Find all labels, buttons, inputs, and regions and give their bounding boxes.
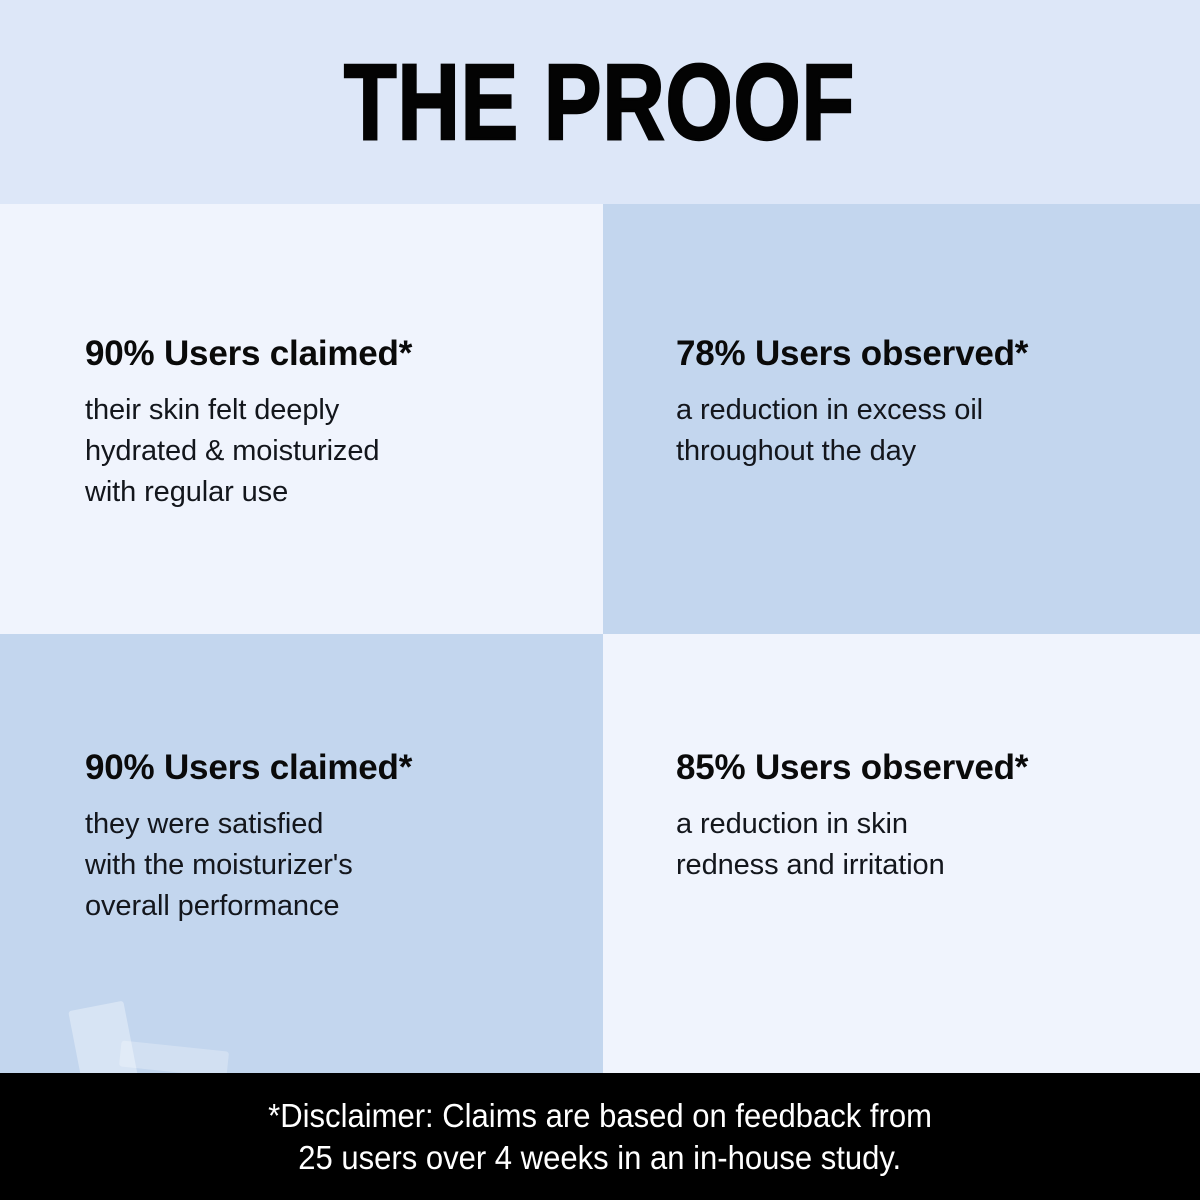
stat-tile-top-left: 90% Users claimed* their skin felt deepl… <box>0 204 603 634</box>
stat-body-line: throughout the day <box>676 431 1176 472</box>
stat-content: 78% Users observed* a reduction in exces… <box>676 332 1176 472</box>
stat-content: 90% Users claimed* their skin felt deepl… <box>85 332 579 513</box>
stat-heading: 90% Users claimed* <box>85 332 579 376</box>
stat-body: their skin felt deeply hydrated & moistu… <box>85 390 579 513</box>
disclaimer-line-2: 25 users over 4 weeks in an in-house stu… <box>299 1137 902 1179</box>
page-title: THE PROOF <box>344 48 855 156</box>
stat-body: a reduction in skin redness and irritati… <box>676 804 1176 886</box>
proof-infographic: THE PROOF 90% Users claimed* their skin … <box>0 0 1200 1200</box>
stat-body: a reduction in excess oil throughout the… <box>676 390 1176 472</box>
stat-body-line: a reduction in excess oil <box>676 390 1176 431</box>
stat-body-line: redness and irritation <box>676 845 1176 886</box>
stat-body-line: their skin felt deeply <box>85 390 579 431</box>
stat-body-line: overall performance <box>85 886 579 927</box>
disclaimer-line-1: *Disclaimer: Claims are based on feedbac… <box>268 1095 932 1137</box>
disclaimer-footer: *Disclaimer: Claims are based on feedbac… <box>0 1073 1200 1200</box>
stat-tile-bottom-right: 85% Users observed* a reduction in skin … <box>603 634 1200 1073</box>
stat-body-line: with regular use <box>85 472 579 513</box>
stat-tile-top-right: 78% Users observed* a reduction in exces… <box>603 204 1200 634</box>
header-band: THE PROOF <box>0 0 1200 204</box>
stat-body-line: with the moisturizer's <box>85 845 579 886</box>
stat-body: they were satisfied with the moisturizer… <box>85 804 579 927</box>
stat-body-line: a reduction in skin <box>676 804 1176 845</box>
stat-body-line: they were satisfied <box>85 804 579 845</box>
stat-body-line: hydrated & moisturized <box>85 431 579 472</box>
stat-heading: 85% Users observed* <box>676 746 1176 790</box>
stat-heading: 78% Users observed* <box>676 332 1176 376</box>
stats-grid: 90% Users claimed* their skin felt deepl… <box>0 204 1200 1073</box>
stat-content: 85% Users observed* a reduction in skin … <box>676 746 1176 886</box>
stat-tile-bottom-left: 90% Users claimed* they were satisfied w… <box>0 634 603 1073</box>
stat-heading: 90% Users claimed* <box>85 746 579 790</box>
stat-content: 90% Users claimed* they were satisfied w… <box>85 746 579 927</box>
